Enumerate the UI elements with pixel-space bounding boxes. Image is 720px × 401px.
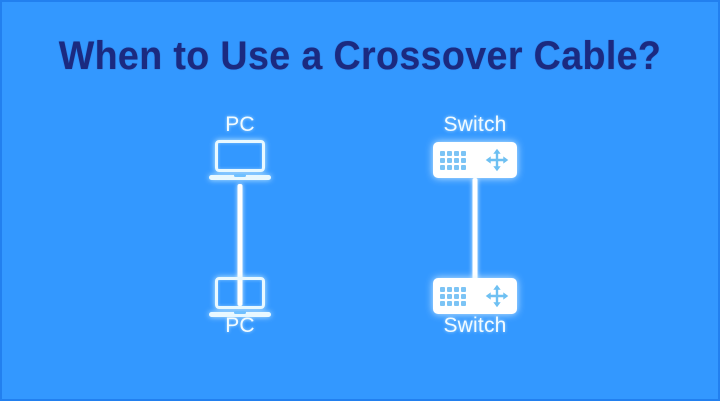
page-title: When to Use a Crossover Cable? <box>22 34 699 79</box>
device-label-pc-top: PC <box>125 114 355 135</box>
laptop-screen-icon <box>215 140 265 172</box>
laptop-icon-top <box>209 140 271 186</box>
laptop-screen-icon <box>215 277 265 309</box>
device-label-switch-top: Switch <box>360 114 590 135</box>
slide-canvas: When to Use a Crossover Cable? PC PC Swi… <box>0 0 720 401</box>
laptop-notch-icon <box>234 174 246 177</box>
four-way-arrow-icon <box>484 147 510 173</box>
network-switch-icon-bottom <box>433 278 517 314</box>
device-label-pc-bottom: PC <box>125 315 355 336</box>
diagram-group-switch-to-switch: Switch Switch <box>360 110 590 345</box>
port-grid-icon <box>440 287 466 306</box>
network-switch-icon-top <box>433 142 517 178</box>
device-label-switch-bottom: Switch <box>360 315 590 336</box>
four-way-arrow-icon <box>484 283 510 309</box>
port-grid-icon <box>440 151 466 170</box>
diagram-group-pc-to-pc: PC PC <box>125 110 355 345</box>
